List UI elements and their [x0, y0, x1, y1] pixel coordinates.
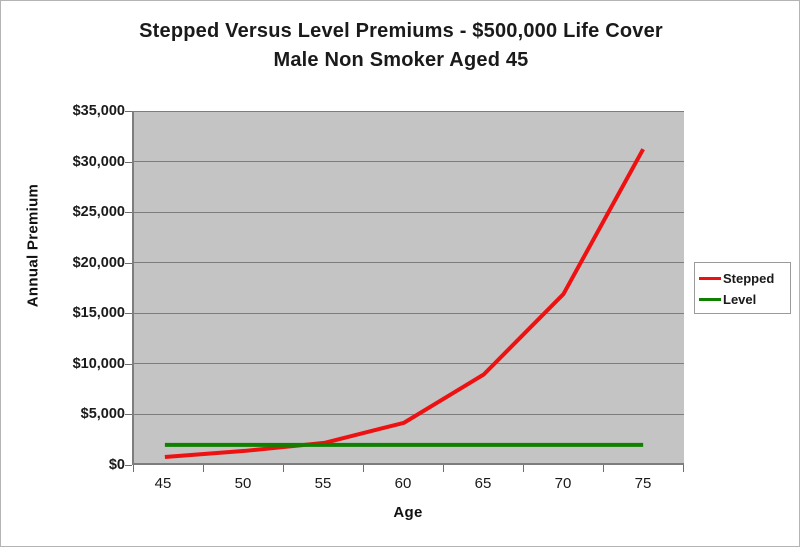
x-tick-mark [133, 465, 134, 472]
y-tick-label: $25,000 [39, 204, 125, 220]
x-tick-mark [683, 465, 684, 472]
y-tick-mark [125, 111, 132, 112]
x-tick-label: 60 [373, 475, 433, 492]
y-tick-label: $35,000 [39, 103, 125, 119]
y-tick-label: $20,000 [39, 255, 125, 271]
chart-title: Stepped Versus Level Premiums - $500,000… [61, 17, 741, 75]
y-tick-label: $0 [39, 457, 125, 473]
y-tick-mark [125, 313, 132, 314]
x-tick-mark [203, 465, 204, 472]
legend-color-swatch [699, 298, 721, 301]
legend-item-label: Level [723, 292, 756, 307]
chart-page: Stepped Versus Level Premiums - $500,000… [0, 0, 800, 547]
y-tick-mark [125, 162, 132, 163]
y-axis-tick-labels: $0$5,000$10,000$15,000$20,000$25,000$30,… [33, 111, 125, 465]
chart-title-line-1: Stepped Versus Level Premiums - $500,000… [139, 20, 663, 42]
chart-legend: SteppedLevel [694, 262, 791, 314]
x-tick-label: 65 [453, 475, 513, 492]
y-tick-mark [125, 364, 132, 365]
y-tick-mark [125, 263, 132, 264]
x-tick-label: 45 [133, 475, 193, 492]
x-axis-title: Age [132, 504, 684, 521]
x-tick-label: 55 [293, 475, 353, 492]
plot-inner [134, 111, 684, 463]
series-line-stepped [165, 149, 643, 457]
legend-item-level[interactable]: Level [699, 289, 786, 310]
x-tick-mark [283, 465, 284, 472]
x-tick-mark [603, 465, 604, 472]
chart-title-line-2: Male Non Smoker Aged 45 [61, 46, 741, 75]
y-tick-mark [125, 212, 132, 213]
y-tick-label: $30,000 [39, 154, 125, 170]
y-tick-mark [125, 465, 132, 466]
y-tick-label: $10,000 [39, 356, 125, 372]
y-tick-mark [125, 414, 132, 415]
x-tick-label: 75 [613, 475, 673, 492]
series-lines [134, 111, 684, 463]
plot-area [132, 111, 684, 465]
x-tick-mark [363, 465, 364, 472]
legend-item-stepped[interactable]: Stepped [699, 268, 786, 289]
y-tick-label: $15,000 [39, 305, 125, 321]
y-tick-label: $5,000 [39, 406, 125, 422]
x-tick-mark [443, 465, 444, 472]
legend-item-label: Stepped [723, 271, 774, 286]
x-tick-label: 70 [533, 475, 593, 492]
legend-color-swatch [699, 277, 721, 280]
x-tick-mark [523, 465, 524, 472]
x-tick-label: 50 [213, 475, 273, 492]
